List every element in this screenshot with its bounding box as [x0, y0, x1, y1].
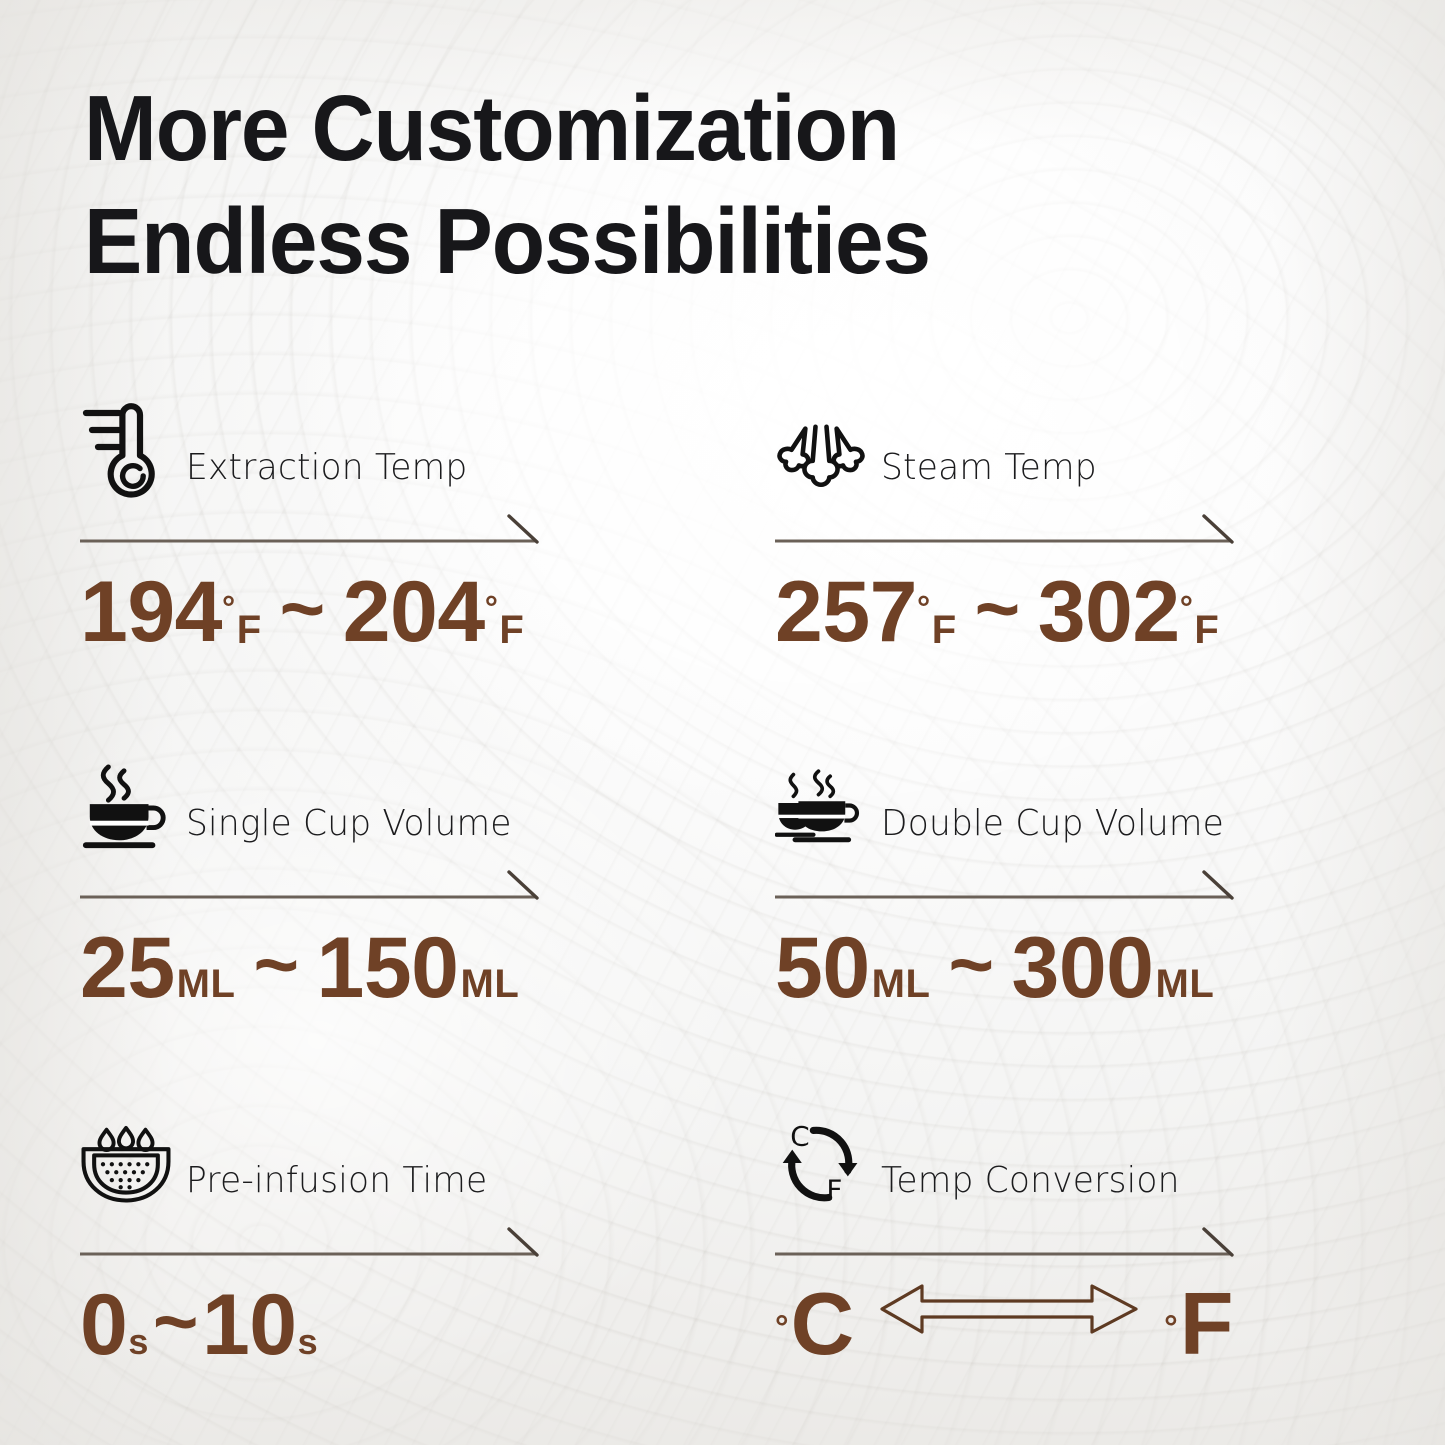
feature-header: Pre-infusion Time: [80, 1105, 550, 1213]
value-separator: ~: [975, 560, 1020, 656]
value-max: 204: [343, 564, 485, 660]
value-max: 10: [202, 1277, 297, 1373]
feature-label: Single Cup Volume: [186, 802, 512, 856]
value-max: 302: [1038, 564, 1180, 660]
unit-letter: F: [1180, 1280, 1234, 1368]
feature-header: Steam Temp: [775, 392, 1245, 500]
feature-label: Temp Conversion: [881, 1159, 1180, 1213]
divider-with-arrow: [775, 1223, 1235, 1263]
unit-letter: F: [499, 582, 524, 678]
value-max-unit: ° F: [1180, 582, 1220, 678]
value-max: 150: [317, 920, 459, 1016]
feature-value: 50 ML ~ 300 ML: [775, 920, 1245, 1032]
feature-label: Pre-infusion Time: [186, 1159, 487, 1213]
value-min: 0: [80, 1277, 127, 1373]
value-max-unit: ° F: [485, 582, 525, 678]
page-title: More Customization Endless Possibilities: [84, 72, 1184, 298]
value-separator: ~: [280, 560, 325, 656]
marketing-infographic-page: More Customization Endless Possibilities: [0, 0, 1445, 1445]
feature-label: Steam Temp: [881, 446, 1097, 500]
feature-card-pre-infusion-time: Pre-infusion Time 0 s ~ 10 s: [80, 1105, 550, 1390]
feature-card-steam-temp: Steam Temp 257 ° F ~ 302 ° F: [775, 392, 1245, 678]
feature-header: Extraction Temp: [80, 392, 550, 500]
value-max: 300: [1012, 920, 1154, 1016]
value-min-unit: s: [128, 1294, 149, 1390]
degree-symbol: °: [1164, 1284, 1178, 1372]
double-cup-icon: [775, 756, 867, 856]
unit-letter: F: [1194, 582, 1219, 678]
steam-icon: [775, 400, 867, 500]
feature-card-temp-conversion: C F Temp Conversion ° C: [775, 1105, 1245, 1379]
unit-letter: F: [237, 582, 262, 678]
unit-letter: C: [791, 1280, 855, 1368]
svg-text:F: F: [826, 1173, 842, 1206]
feature-value: 25 ML ~ 150 ML: [80, 920, 550, 1032]
feature-header: Single Cup Volume: [80, 748, 550, 856]
value-min: 25: [80, 920, 175, 1016]
portafilter-icon: [80, 1113, 172, 1213]
value-min: 257: [775, 564, 917, 660]
divider-with-arrow: [775, 510, 1235, 550]
feature-card-double-cup-volume: Double Cup Volume 50 ML ~ 300 ML: [775, 748, 1245, 1032]
divider-with-arrow: [80, 866, 540, 906]
celsius-term: ° C: [775, 1280, 854, 1368]
feature-card-extraction-temp: Extraction Temp 194 ° F ~ 204 ° F: [80, 392, 550, 678]
feature-card-single-cup-volume: Single Cup Volume 25 ML ~ 150 ML: [80, 748, 550, 1032]
single-cup-icon: [80, 756, 172, 856]
feature-value: 194 ° F ~ 204 ° F: [80, 564, 550, 678]
value-max-unit: ML: [461, 936, 520, 1032]
value-separator: ~: [253, 916, 298, 1012]
degree-symbol: °: [485, 560, 498, 656]
value-separator: ~: [153, 1273, 198, 1369]
value-min-unit: ° F: [222, 582, 262, 678]
degree-symbol: °: [917, 560, 930, 656]
divider-with-arrow: [775, 866, 1235, 906]
divider-with-arrow: [80, 1223, 540, 1263]
feature-value: ° C ° F: [775, 1269, 1245, 1379]
value-max-unit: s: [298, 1294, 319, 1390]
feature-label: Double Cup Volume: [881, 802, 1224, 856]
double-headed-arrow-icon: [878, 1282, 1140, 1366]
feature-value: 0 s ~ 10 s: [80, 1277, 550, 1390]
unit-letter: F: [932, 582, 957, 678]
feature-header: C F Temp Conversion: [775, 1105, 1245, 1213]
svg-text:C: C: [790, 1120, 809, 1153]
value-min: 194: [80, 564, 222, 660]
fahrenheit-term: ° F: [1164, 1280, 1233, 1368]
degree-symbol: °: [222, 560, 235, 656]
page-title-line-1: More Customization: [84, 72, 1118, 185]
degree-symbol: °: [1180, 560, 1193, 656]
degree-symbol: °: [775, 1284, 789, 1372]
value-min-unit: ° F: [917, 582, 957, 678]
value-min: 50: [775, 920, 870, 1016]
value-min-unit: ML: [872, 936, 931, 1032]
feature-label: Extraction Temp: [186, 446, 467, 500]
page-title-line-2: Endless Possibilities: [84, 185, 1118, 298]
thermometer-icon: [80, 400, 172, 500]
feature-header: Double Cup Volume: [775, 748, 1245, 856]
value-separator: ~: [948, 916, 993, 1012]
conversion-cycle-icon: C F: [775, 1113, 867, 1213]
value-min-unit: ML: [177, 936, 236, 1032]
feature-value: 257 ° F ~ 302 ° F: [775, 564, 1245, 678]
divider-with-arrow: [80, 510, 540, 550]
value-max-unit: ML: [1156, 936, 1215, 1032]
